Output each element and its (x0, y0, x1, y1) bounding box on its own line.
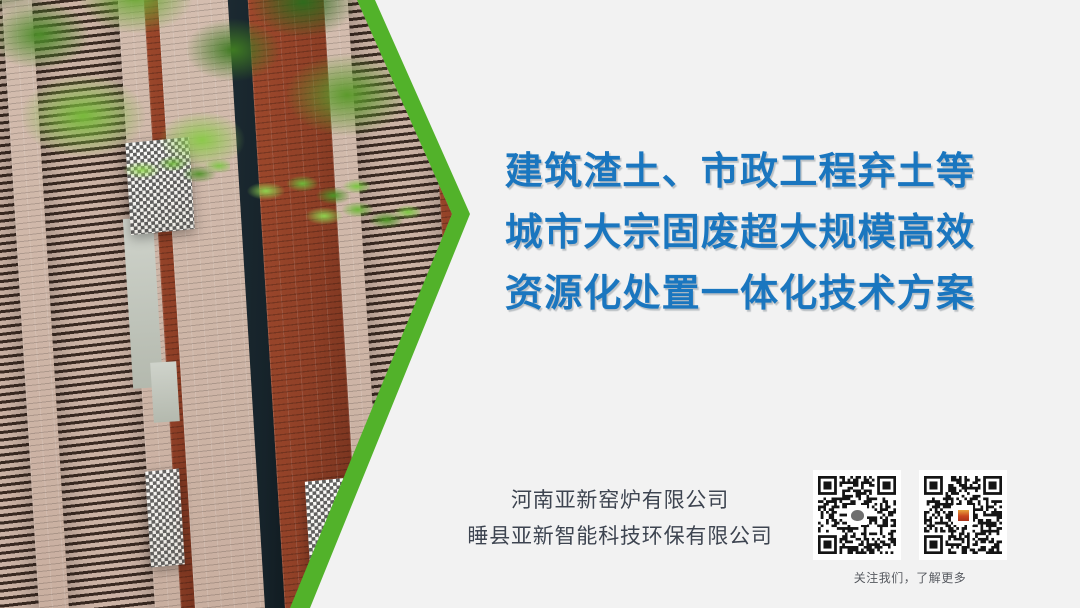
wechat-bubble-shape (851, 510, 864, 521)
qr-code-section: 关注我们，了解更多 (806, 470, 1014, 586)
wechat-logo-icon (847, 505, 867, 525)
tree-branch-leaves (300, 196, 420, 236)
company-name-2: 睡县亚新智能科技环保有限公司 (440, 518, 800, 554)
title-line-3: 资源化处置一体化技术方案 (470, 264, 1010, 325)
qr-code-row (806, 470, 1014, 560)
gold-emblem-icon (953, 505, 973, 525)
perforated-balcony-panel (145, 468, 185, 567)
company-name-1: 河南亚新窑炉有限公司 (440, 482, 800, 518)
gold-emblem-shape (957, 509, 970, 522)
wechat-official-account-qr[interactable] (813, 470, 901, 560)
title-line-2: 城市大宗固废超大规模高效 (470, 203, 1010, 264)
slide-title: 建筑渣土、市政工程弃土等 城市大宗固废超大规模高效 资源化处置一体化技术方案 (470, 142, 1010, 325)
tree-branch-leaves (120, 150, 230, 190)
company-names: 河南亚新窑炉有限公司 睡县亚新智能科技环保有限公司 (440, 482, 800, 554)
presentation-slide: 建筑渣土、市政工程弃土等 城市大宗固废超大规模高效 资源化处置一体化技术方案 河… (0, 0, 1080, 608)
qr-caption: 关注我们，了解更多 (806, 569, 1014, 586)
wechat-mini-program-qr[interactable] (919, 470, 1007, 560)
balcony-soffit (150, 361, 180, 422)
title-line-1: 建筑渣土、市政工程弃土等 (470, 142, 1010, 203)
